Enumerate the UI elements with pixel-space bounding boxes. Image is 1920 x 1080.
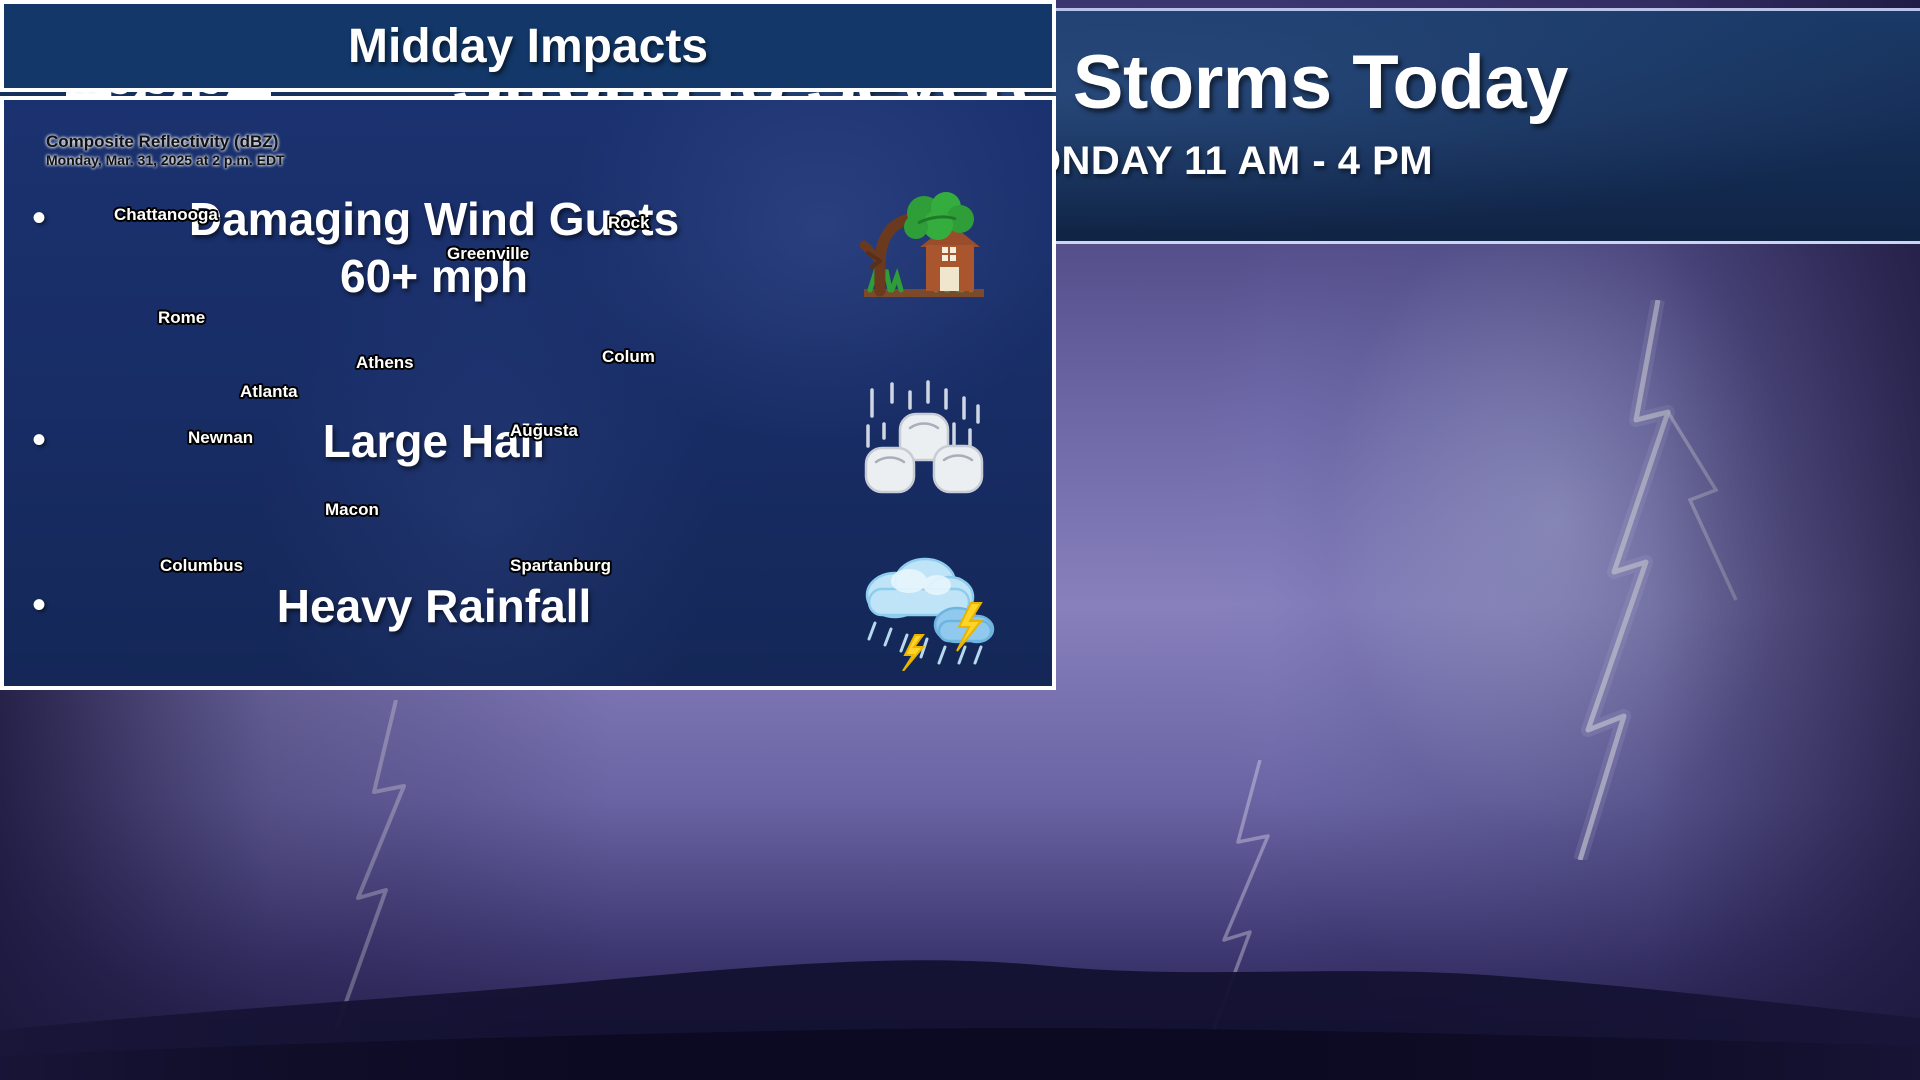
city-label: Newnan	[188, 428, 253, 448]
impact-label-rain: Heavy Rainfall	[64, 578, 804, 636]
list-item: • Heavy Rainfall	[4, 532, 1056, 682]
radar-caption: Composite Reflectivity (dBZ) Monday, Mar…	[46, 132, 285, 169]
impact-bullet-hail: • Large Hail	[4, 413, 824, 471]
impact-label-hail: Large Hail	[64, 413, 804, 471]
tree-house-wind-damage-icon	[824, 189, 1024, 307]
city-label: Athens	[356, 353, 414, 373]
impact-bullet-rain: • Heavy Rainfall	[4, 578, 824, 636]
radar-caption-product: Composite Reflectivity (dBZ)	[46, 132, 285, 152]
impacts-list: • Damaging Wind Gusts60+ mph	[4, 100, 1056, 690]
hailstones-icon	[824, 380, 1024, 504]
city-label: Spartanburg	[510, 556, 611, 576]
city-label: Colum	[602, 347, 655, 367]
city-label: Atlanta	[240, 382, 298, 402]
impacts-panel-body: • Damaging Wind Gusts60+ mph	[0, 96, 1056, 690]
thunderstorm-rain-cloud-icon	[824, 543, 1024, 671]
subtitle-time: MONDAY 11 AM - 4 PM	[996, 139, 1433, 183]
bullet-dot-icon: •	[32, 586, 46, 624]
city-label: Macon	[325, 500, 379, 520]
impacts-panel-title: Midday Impacts	[0, 0, 1056, 92]
city-label: Rome	[158, 308, 205, 328]
bullet-dot-icon: •	[32, 421, 46, 459]
city-label: Greenville	[447, 244, 529, 264]
weather-graphic-stage: 95.5 WSB ATLANTA'S NEWS & TALK Strong to…	[0, 0, 1920, 1080]
city-label: Augusta	[510, 421, 578, 441]
list-item: • Large Hail	[4, 372, 1056, 512]
bullet-dot-icon: •	[32, 199, 46, 237]
city-label: Rock	[608, 213, 650, 233]
city-label: Chattanooga	[114, 205, 218, 225]
radar-caption-timestamp: Monday, Mar. 31, 2025 at 2 p.m. EDT	[46, 152, 285, 169]
city-label: Columbus	[160, 556, 243, 576]
